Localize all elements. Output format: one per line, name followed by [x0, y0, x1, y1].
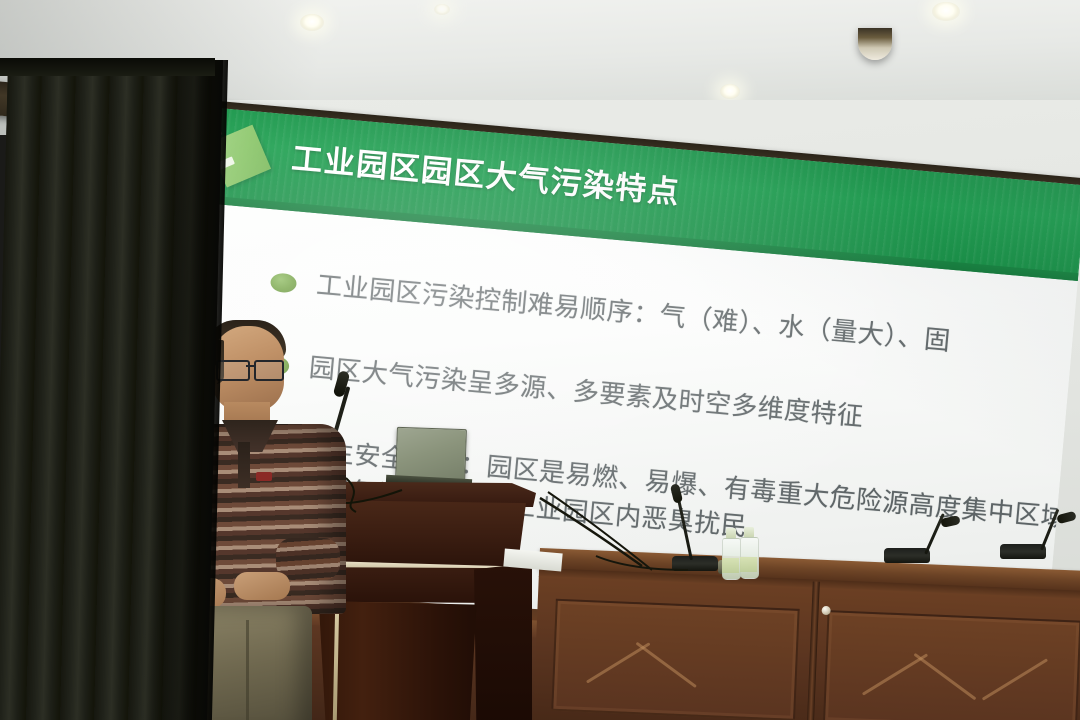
water-bottle-2	[740, 527, 757, 577]
podium-side-panel	[474, 563, 532, 720]
shirt-placket	[238, 442, 250, 488]
bottle-label	[740, 557, 757, 572]
presenter-right-hand	[234, 572, 290, 600]
conference-table	[532, 548, 1080, 720]
bottle-label	[722, 558, 739, 573]
table-panel-1	[551, 599, 799, 720]
downlight-4	[434, 4, 450, 15]
downlight-2	[720, 84, 740, 99]
shirt-logo	[256, 472, 272, 481]
curtain-rail	[0, 58, 215, 76]
trouser-seam	[246, 620, 249, 720]
presenter-right-forearm	[276, 538, 340, 580]
downlight-3	[932, 2, 960, 21]
table-seam	[806, 581, 820, 720]
bullet-dot-icon	[270, 272, 298, 293]
table-front-panel	[532, 576, 1080, 720]
table-panel-2	[823, 610, 1080, 720]
laptop	[395, 427, 467, 483]
conference-room-photo: 工业园区园区大气污染特点 工业园区污染控制难易顺序：气（难）、水（量大）、固 园…	[0, 0, 1080, 720]
water-bottle-1	[722, 528, 739, 578]
downlight-1	[300, 14, 324, 31]
eyeglasses-icon	[216, 360, 288, 377]
